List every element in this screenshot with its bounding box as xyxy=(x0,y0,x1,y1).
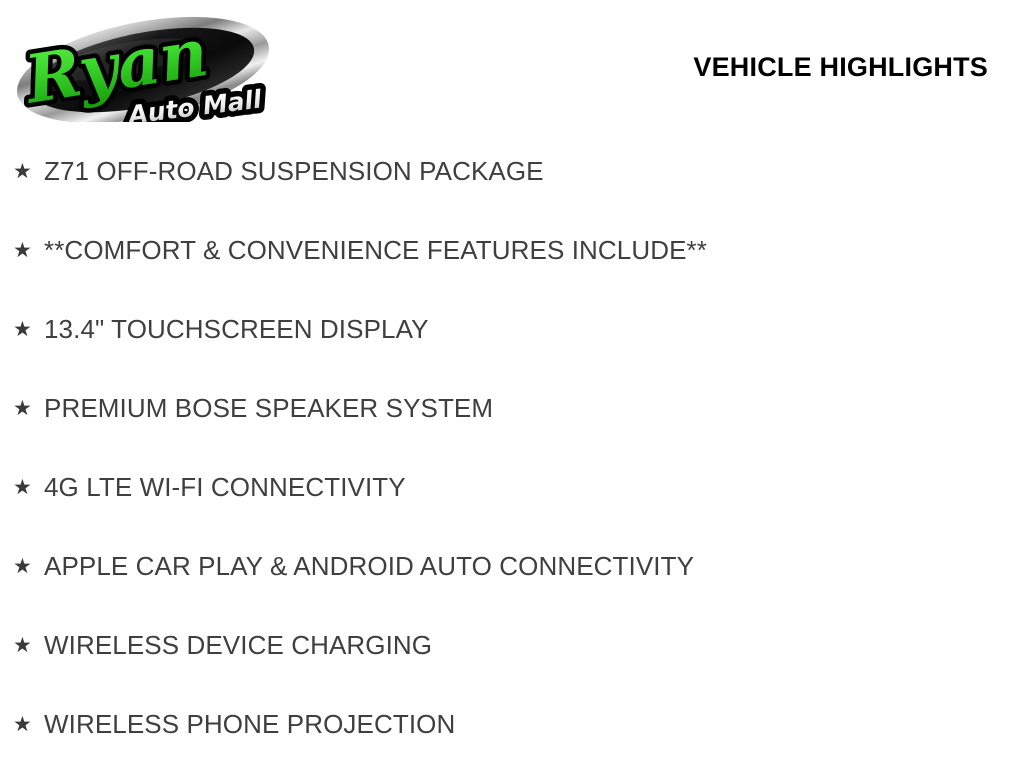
list-item-label: **COMFORT & CONVENIENCE FEATURES INCLUDE… xyxy=(44,236,707,265)
list-item-label: 13.4" TOUCHSCREEN DISPLAY xyxy=(44,315,429,344)
list-item: ★ **COMFORT & CONVENIENCE FEATURES INCLU… xyxy=(0,211,1024,290)
list-item-label: APPLE CAR PLAY & ANDROID AUTO CONNECTIVI… xyxy=(44,552,694,581)
list-item: ★ 13.4" TOUCHSCREEN DISPLAY xyxy=(0,290,1024,369)
page-title: VEHICLE HIGHLIGHTS xyxy=(693,52,988,83)
star-icon: ★ xyxy=(13,319,44,340)
list-item: ★ 4G LTE WI-FI CONNECTIVITY xyxy=(0,448,1024,527)
list-item-label: PREMIUM BOSE SPEAKER SYSTEM xyxy=(44,394,493,423)
star-icon: ★ xyxy=(13,240,44,261)
list-item: ★ WIRELESS PHONE PROJECTION xyxy=(0,685,1024,764)
list-item: ★ WIRELESS DEVICE CHARGING xyxy=(0,606,1024,685)
list-item-label: 4G LTE WI-FI CONNECTIVITY xyxy=(44,473,406,502)
list-item: ★ PREMIUM BOSE SPEAKER SYSTEM xyxy=(0,369,1024,448)
list-item: ★ APPLE CAR PLAY & ANDROID AUTO CONNECTI… xyxy=(0,527,1024,606)
vehicle-highlights-list: ★ Z71 OFF-ROAD SUSPENSION PACKAGE ★ **CO… xyxy=(0,132,1024,764)
header-band: Ryan Ryan Auto Mall Auto Mall VEHICLE HI… xyxy=(0,0,1024,132)
logo-graphic: Ryan Ryan Auto Mall Auto Mall xyxy=(8,10,298,122)
star-icon: ★ xyxy=(13,635,44,656)
list-item: ★ Z71 OFF-ROAD SUSPENSION PACKAGE xyxy=(0,132,1024,211)
list-item-label: WIRELESS DEVICE CHARGING xyxy=(44,631,432,660)
star-icon: ★ xyxy=(13,477,44,498)
list-item-label: WIRELESS PHONE PROJECTION xyxy=(44,710,455,739)
ryan-auto-mall-logo[interactable]: Ryan Ryan Auto Mall Auto Mall xyxy=(8,10,298,122)
star-icon: ★ xyxy=(13,714,44,735)
star-icon: ★ xyxy=(13,556,44,577)
star-icon: ★ xyxy=(13,398,44,419)
list-item-label: Z71 OFF-ROAD SUSPENSION PACKAGE xyxy=(44,157,544,186)
star-icon: ★ xyxy=(13,161,44,182)
